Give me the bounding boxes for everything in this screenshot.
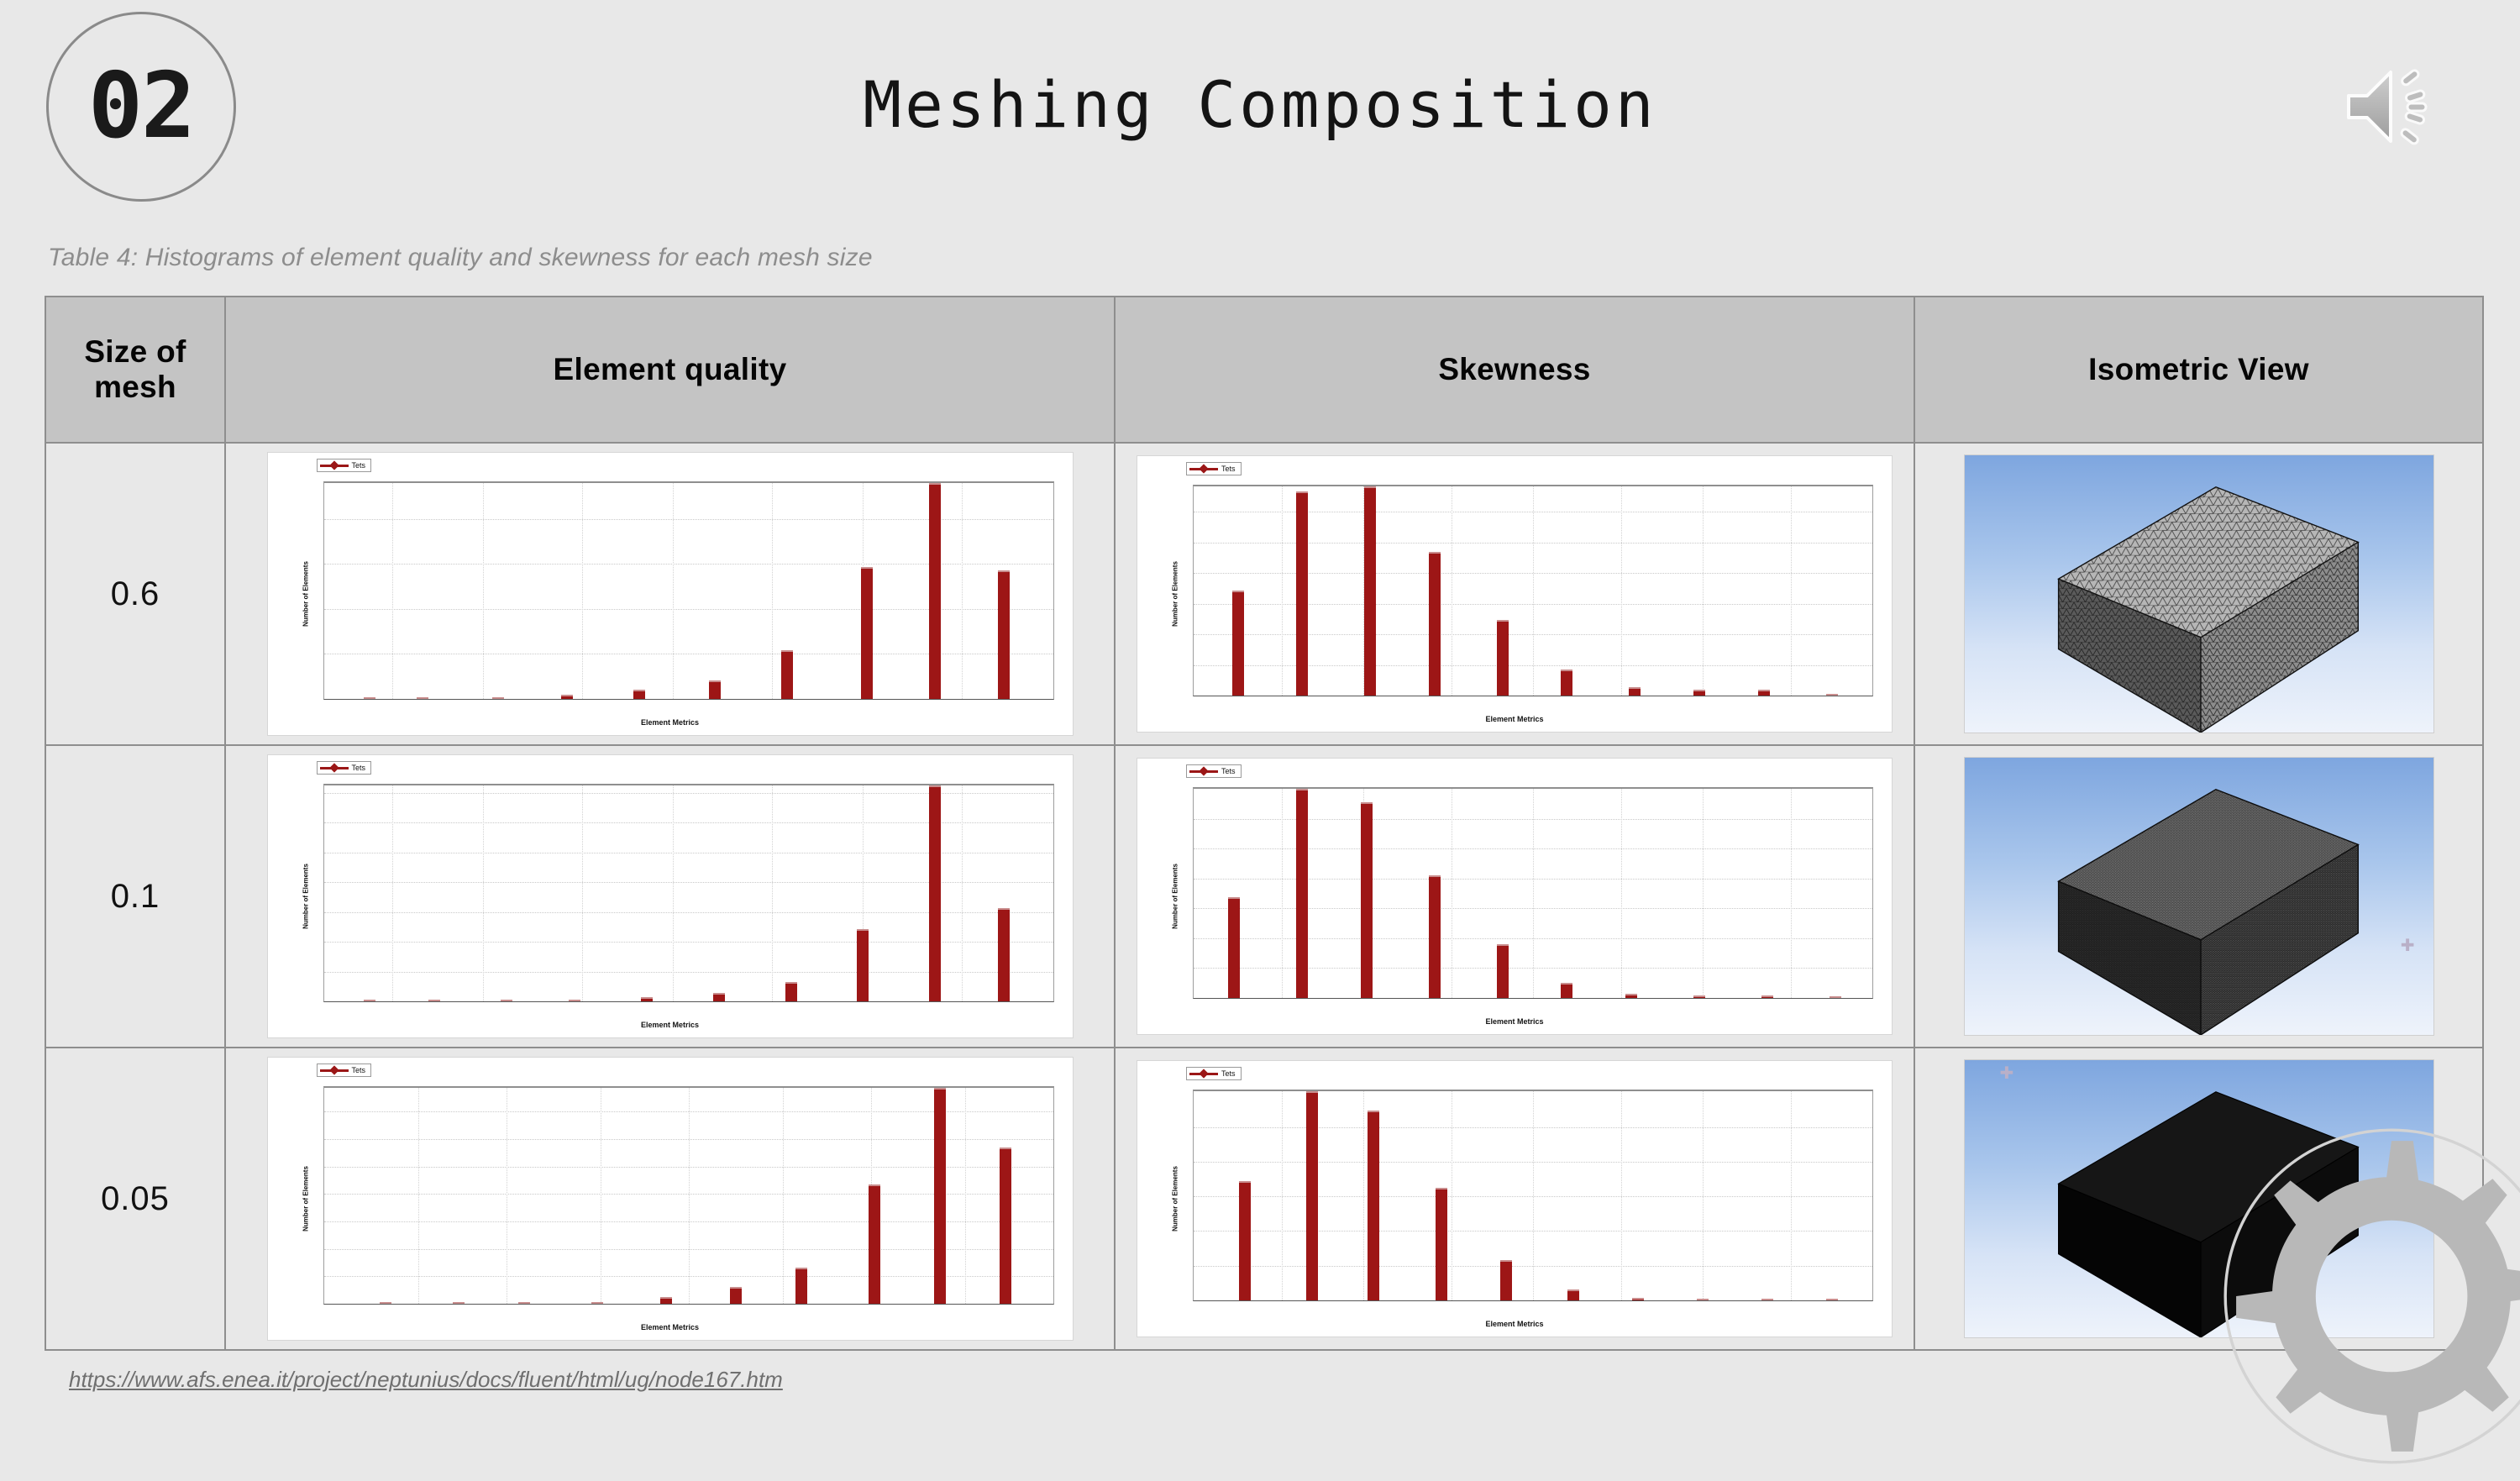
gridline-vertical xyxy=(772,483,773,699)
y-axis-tick: 0.00 xyxy=(1193,1297,1194,1302)
cell-element-quality: TetsNumber of ElementsElement Metrics0.0… xyxy=(225,443,1115,745)
histogram-bar xyxy=(1697,1299,1709,1300)
histogram-bar xyxy=(1228,897,1240,998)
column-header-element-quality: Element quality xyxy=(225,297,1115,443)
histogram-bar xyxy=(1429,875,1441,998)
x-axis-label: Element Metrics xyxy=(1137,715,1892,723)
gridline-vertical xyxy=(962,785,963,1001)
histogram-bar xyxy=(1368,1111,1379,1300)
y-axis-tick: 1967153.00 xyxy=(323,1086,324,1092)
slide-number: 02 xyxy=(88,61,194,152)
gridline-vertical xyxy=(689,1088,690,1304)
histogram-bar xyxy=(998,570,1010,699)
histogram-bar xyxy=(501,1000,512,1001)
histogram-bar xyxy=(857,929,869,1001)
gridline-vertical xyxy=(483,483,484,699)
gridline-horizontal xyxy=(324,564,1053,565)
gridline-vertical xyxy=(1791,789,1792,998)
gridline-horizontal xyxy=(324,519,1053,520)
legend-swatch xyxy=(1189,468,1218,470)
y-axis-label: Number of Elements xyxy=(1171,561,1179,627)
gridline-vertical xyxy=(772,785,773,1001)
gridline-vertical xyxy=(1621,486,1622,696)
legend-label: Tets xyxy=(1221,767,1236,775)
plot-wrapper: 0.0050000.00100000.00150000.00200000.002… xyxy=(323,784,1054,1002)
gridline-vertical xyxy=(965,1088,966,1304)
gridline-vertical xyxy=(582,483,583,699)
y-axis-label: Number of Elements xyxy=(1171,864,1179,929)
gridline-vertical xyxy=(1703,486,1704,696)
plot-area: 0.0010000.0020000.0030000.0040000.004802… xyxy=(323,481,1054,700)
y-axis-tick: 0.00 xyxy=(323,696,324,701)
histogram-bar xyxy=(633,690,645,699)
histogram-bar xyxy=(1761,1299,1773,1300)
chart-legend: Tets xyxy=(1186,1067,1242,1080)
gridline-vertical xyxy=(1533,486,1534,696)
y-axis-tick: 150764.00 xyxy=(1193,1090,1194,1095)
table-row: 0.05 TetsNumber of ElementsElement Metri… xyxy=(45,1048,2483,1350)
cell-skewness: TetsNumber of ElementsElement Metrics0.0… xyxy=(1115,745,1914,1048)
page-title: Meshing Composition xyxy=(0,67,2520,142)
table-header: Size of mesh Element quality Skewness Is… xyxy=(45,297,2483,443)
histogram-bar xyxy=(1625,994,1637,998)
table-row: 0.6 TetsNumber of ElementsElement Metric… xyxy=(45,443,2483,745)
plot-area: 0.0025000.0050000.0075000.00100000.00125… xyxy=(1193,1090,1873,1301)
histogram-bar xyxy=(1826,1299,1838,1300)
gridline-vertical xyxy=(1621,789,1622,998)
gridline-vertical xyxy=(783,1088,784,1304)
histogram-bar xyxy=(641,997,653,1001)
source-url-link[interactable]: https://www.afs.enea.it/project/neptuniu… xyxy=(69,1367,783,1393)
gridline-vertical xyxy=(1282,486,1283,696)
histogram-bar xyxy=(781,650,793,699)
cell-element-quality: TetsNumber of ElementsElement Metrics0.0… xyxy=(225,745,1115,1048)
gridline-vertical xyxy=(1533,1091,1534,1300)
histogram-bar xyxy=(364,697,375,699)
histogram-bar xyxy=(713,993,725,1001)
legend-label: Tets xyxy=(352,1066,366,1074)
legend-label: Tets xyxy=(352,764,366,772)
plot-wrapper: 0.00250000.00500000.00750000.001000000.0… xyxy=(323,1086,1054,1305)
histogram-bar xyxy=(998,908,1010,1001)
gridline-horizontal xyxy=(324,972,1053,973)
chart-skewness-01[interactable]: TetsNumber of ElementsElement Metrics0.0… xyxy=(1137,758,1893,1035)
gridline-horizontal xyxy=(324,822,1053,823)
legend-swatch xyxy=(1189,1073,1218,1075)
histogram-bar xyxy=(1761,995,1773,998)
y-axis-label: Number of Elements xyxy=(302,864,309,929)
chart-legend: Tets xyxy=(317,459,372,472)
cell-isometric-view xyxy=(1914,443,2483,745)
gridline-vertical xyxy=(392,785,393,1001)
gridline-vertical xyxy=(1533,789,1534,998)
gridline-vertical xyxy=(673,483,674,699)
histogram-bar xyxy=(1306,1091,1318,1300)
chart-legend: Tets xyxy=(1186,764,1242,778)
y-axis-tick: 48021.00 xyxy=(323,481,324,487)
plot-wrapper: 0.004000.008000.0012000.0016000.0020000.… xyxy=(1193,787,1873,999)
chart-skewness-005[interactable]: TetsNumber of ElementsElement Metrics0.0… xyxy=(1137,1060,1893,1337)
y-axis-tick: 28055.00 xyxy=(1193,787,1194,793)
histogram-bar xyxy=(453,1302,465,1304)
plot-area: 0.0050000.00100000.00150000.00200000.002… xyxy=(323,784,1054,1002)
column-header-size-of-mesh: Size of mesh xyxy=(45,297,225,443)
histogram-bar xyxy=(1429,552,1441,696)
histogram-bar xyxy=(380,1302,391,1304)
x-axis-label: Element Metrics xyxy=(1137,1320,1892,1328)
gridline-vertical xyxy=(673,785,674,1001)
chart-skewness-06[interactable]: TetsNumber of ElementsElement Metrics0.0… xyxy=(1137,455,1893,733)
gridline-horizontal xyxy=(324,882,1053,883)
chart-quality-06[interactable]: TetsNumber of ElementsElement Metrics0.0… xyxy=(267,452,1074,736)
histogram-bar xyxy=(709,680,721,699)
histogram-bar xyxy=(1629,687,1641,696)
legend-swatch xyxy=(320,465,349,467)
gridline-horizontal xyxy=(324,793,1053,794)
histogram-bar xyxy=(1497,620,1509,696)
isometric-view-06[interactable] xyxy=(1964,454,2434,733)
crosshair-marker: ✚ xyxy=(2401,937,2415,954)
gridline-vertical xyxy=(1452,486,1452,696)
gridline-vertical xyxy=(1791,486,1792,696)
histogram-bar xyxy=(795,1268,807,1304)
gridline-horizontal xyxy=(324,912,1053,913)
y-axis-tick: 0.00 xyxy=(1193,692,1194,697)
gridline-vertical xyxy=(483,785,484,1001)
histogram-bar xyxy=(730,1287,742,1304)
histogram-bar xyxy=(428,1000,440,1001)
isometric-view-005[interactable]: ✚ xyxy=(1964,1059,2434,1338)
histogram-bar xyxy=(591,1302,603,1304)
legend-swatch xyxy=(320,767,349,769)
histogram-bar xyxy=(364,1000,375,1001)
gridline-vertical xyxy=(1703,789,1704,998)
histogram-bar xyxy=(1693,995,1705,998)
legend-swatch xyxy=(1189,770,1218,773)
legend-label: Tets xyxy=(1221,1069,1236,1078)
histogram-bar xyxy=(569,1000,580,1001)
plot-wrapper: 0.0025000.0050000.0075000.00100000.00125… xyxy=(1193,1090,1873,1301)
y-axis-label: Number of Elements xyxy=(302,1166,309,1232)
cell-element-quality: TetsNumber of ElementsElement Metrics0.0… xyxy=(225,1048,1115,1350)
histogram-bar xyxy=(492,697,504,699)
gridline-vertical xyxy=(601,1088,601,1304)
gridline-horizontal xyxy=(324,942,1053,943)
column-header-isometric-view: Isometric View xyxy=(1914,297,2483,443)
histogram-bar xyxy=(929,785,941,1001)
table-caption: Table 4: Histograms of element quality a… xyxy=(48,244,873,272)
gridline-vertical xyxy=(418,1088,419,1304)
histogram-bar xyxy=(1232,591,1244,696)
histogram-bar xyxy=(1361,802,1373,998)
gridline-vertical xyxy=(1452,1091,1452,1300)
table-header-row: Size of mesh Element quality Skewness Is… xyxy=(45,297,2483,443)
crosshair-marker: ✚ xyxy=(2000,1065,2014,1082)
y-axis-label: Number of Elements xyxy=(302,561,309,627)
gridline-vertical xyxy=(1621,1091,1622,1300)
histogram-bar xyxy=(1561,983,1572,998)
y-axis-tick: 362738.00 xyxy=(323,784,324,790)
gridline-vertical xyxy=(582,785,583,1001)
histogram-bar xyxy=(934,1088,946,1304)
histogram-bar xyxy=(1500,1260,1512,1300)
histogram-bar xyxy=(1561,670,1572,696)
gridline-vertical xyxy=(1703,1091,1704,1300)
isometric-view-01[interactable]: ✚ xyxy=(1964,757,2434,1036)
gridline-vertical xyxy=(392,483,393,699)
y-axis-label: Number of Elements xyxy=(1171,1166,1179,1232)
y-axis-tick: 0.00 xyxy=(323,998,324,1003)
table-body: 0.6 TetsNumber of ElementsElement Metric… xyxy=(45,443,2483,1350)
legend-label: Tets xyxy=(352,461,366,470)
y-axis-tick: 0.00 xyxy=(323,1300,324,1305)
histogram-bar xyxy=(1693,690,1705,696)
chart-legend: Tets xyxy=(317,761,372,775)
histogram-bar xyxy=(561,695,573,699)
cell-size-of-mesh: 0.6 xyxy=(45,443,225,745)
histogram-bar xyxy=(1000,1148,1011,1304)
x-axis-label: Element Metrics xyxy=(268,1021,1073,1029)
chart-quality-005[interactable]: TetsNumber of ElementsElement Metrics0.0… xyxy=(267,1057,1074,1341)
histogram-bar xyxy=(929,483,941,699)
histogram-bar xyxy=(1239,1181,1251,1300)
histogram-bar xyxy=(1826,694,1838,696)
plot-area: 0.004000.008000.0012000.0016000.0020000.… xyxy=(1193,787,1873,999)
histogram-bar xyxy=(417,697,428,699)
y-axis-tick: 0.00 xyxy=(1193,995,1194,1000)
gridline-vertical xyxy=(1363,1091,1364,1300)
gridline-vertical xyxy=(962,483,963,699)
chart-quality-01[interactable]: TetsNumber of ElementsElement Metrics0.0… xyxy=(267,754,1074,1038)
cell-isometric-view: ✚ xyxy=(1914,1048,2483,1350)
plot-area: 0.005000.0010000.0015000.0020000.0025000… xyxy=(1193,485,1873,696)
y-axis-tick: 34183.00 xyxy=(1193,485,1194,491)
histogram-bar xyxy=(1830,996,1841,998)
chart-legend: Tets xyxy=(317,1063,372,1077)
gridline-vertical xyxy=(507,1088,507,1304)
histogram-bar xyxy=(660,1297,672,1304)
gridline-horizontal xyxy=(324,853,1053,853)
cell-skewness: TetsNumber of ElementsElement Metrics0.0… xyxy=(1115,1048,1914,1350)
gridline-vertical xyxy=(1282,1091,1283,1300)
gridline-vertical xyxy=(1791,1091,1792,1300)
mesh-results-table: Size of mesh Element quality Skewness Is… xyxy=(45,296,2484,1351)
histogram-bar xyxy=(1567,1289,1579,1300)
slide-number-badge: 02 xyxy=(46,12,236,202)
histogram-bar xyxy=(861,567,873,699)
gridline-horizontal xyxy=(324,654,1053,654)
cell-isometric-view: ✚ xyxy=(1914,745,2483,1048)
histogram-bar xyxy=(1632,1298,1644,1300)
histogram-bar xyxy=(1364,486,1376,696)
column-header-skewness: Skewness xyxy=(1115,297,1914,443)
histogram-bar xyxy=(1497,944,1509,998)
histogram-bar xyxy=(518,1302,530,1304)
histogram-bar xyxy=(869,1184,880,1304)
table-row: 0.1 TetsNumber of ElementsElement Metric… xyxy=(45,745,2483,1048)
gridline-vertical xyxy=(1452,789,1452,998)
histogram-bar xyxy=(1758,690,1770,696)
histogram-bar xyxy=(785,982,797,1001)
x-axis-label: Element Metrics xyxy=(268,718,1073,727)
chart-legend: Tets xyxy=(1186,462,1242,475)
legend-swatch xyxy=(320,1069,349,1072)
legend-label: Tets xyxy=(1221,465,1236,473)
x-axis-label: Element Metrics xyxy=(268,1323,1073,1331)
plot-area: 0.00250000.00500000.00750000.001000000.0… xyxy=(323,1086,1054,1305)
cell-skewness: TetsNumber of ElementsElement Metrics0.0… xyxy=(1115,443,1914,745)
x-axis-label: Element Metrics xyxy=(1137,1017,1892,1026)
histogram-bar xyxy=(1296,491,1308,696)
gridline-vertical xyxy=(1282,789,1283,998)
histogram-bar xyxy=(1436,1188,1447,1300)
plot-wrapper: 0.0010000.0020000.0030000.0040000.004802… xyxy=(323,481,1054,700)
cell-size-of-mesh: 0.1 xyxy=(45,745,225,1048)
plot-wrapper: 0.005000.0010000.0015000.0020000.0025000… xyxy=(1193,485,1873,696)
gridline-horizontal xyxy=(324,609,1053,610)
histogram-bar xyxy=(1296,789,1308,998)
speaker-icon[interactable] xyxy=(2342,60,2443,153)
cell-size-of-mesh: 0.05 xyxy=(45,1048,225,1350)
